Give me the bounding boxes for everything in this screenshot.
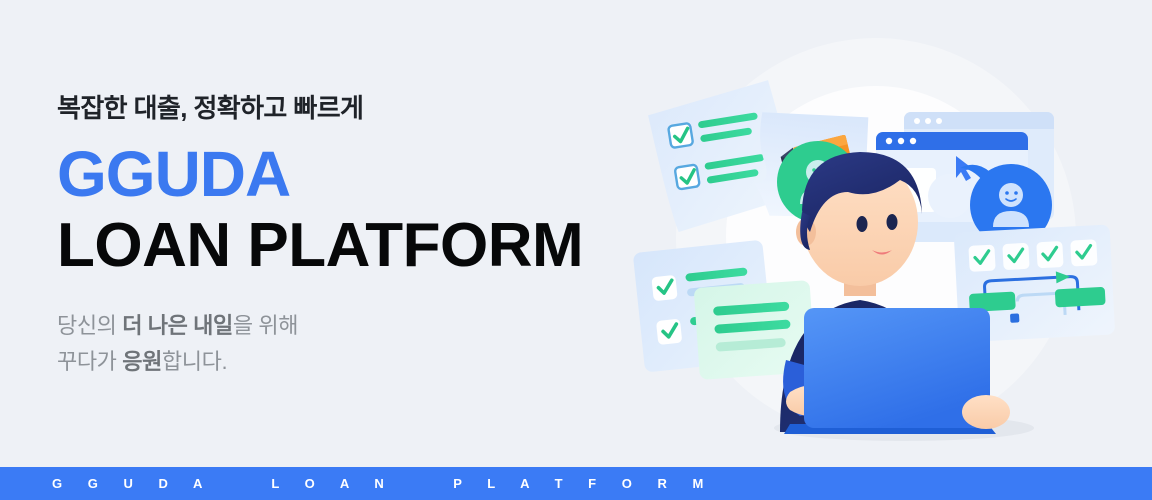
tagline-line1-strong: 더 나은 내일	[122, 313, 233, 338]
tagline-line1-pre: 당신의	[57, 313, 122, 338]
illustration-scene	[604, 0, 1152, 467]
hero-illustration	[604, 0, 1152, 467]
tagline-line-2: 꾸다가 응원합니다.	[57, 344, 617, 379]
brand-name: GGUDA	[57, 139, 617, 211]
footer-strip: G G U D A L O A N P L A T F O R M	[0, 467, 1152, 500]
hero-banner: 복잡한 대출, 정확하고 빠르게 GGUDA LOAN PLATFORM 당신의…	[0, 0, 1152, 500]
tagline-line2-strong: 응원	[122, 349, 162, 374]
tagline-line-1: 당신의 더 나은 내일을 위해	[57, 308, 617, 343]
hero-eyebrow: 복잡한 대출, 정확하고 빠르게	[57, 92, 617, 125]
hero-tagline: 당신의 더 나은 내일을 위해 꾸다가 응원합니다.	[57, 308, 617, 378]
tagline-line2-post: 합니다.	[162, 349, 227, 374]
tagline-line2-pre: 꾸다가	[57, 349, 122, 374]
hero-copy-block: 복잡한 대출, 정확하고 빠르게 GGUDA LOAN PLATFORM 당신의…	[57, 92, 617, 379]
tagline-line1-post: 을 위해	[233, 313, 298, 338]
footer-strip-text: G G U D A L O A N P L A T F O R M	[52, 476, 714, 491]
product-name: LOAN PLATFORM	[57, 212, 617, 280]
